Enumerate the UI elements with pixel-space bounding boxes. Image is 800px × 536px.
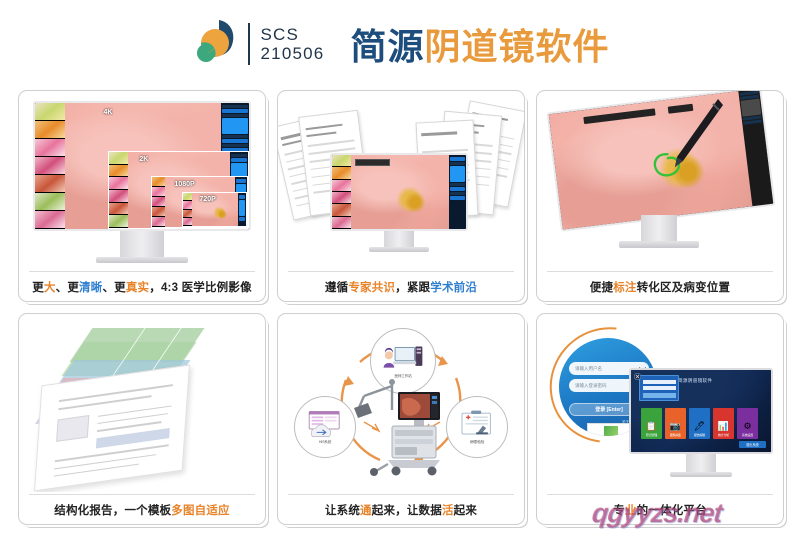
feature-card-consensus[interactable]: 遵循专家共识，紧跟学术前沿 xyxy=(277,90,525,302)
tile-capture[interactable]: 📷 图像采集 xyxy=(665,408,686,439)
page-header: SCS 210506 简源阴道镜软件 xyxy=(0,0,800,88)
monitor-screen xyxy=(330,153,468,231)
chart-icon: 📊 xyxy=(718,422,729,431)
caption-mid-2: 、更 xyxy=(102,279,125,295)
stylus-pen xyxy=(661,95,727,171)
monitor-platform: 简源阴道镜软件 📋 登记管理 xyxy=(629,368,773,477)
caption-hl-1: 标注 xyxy=(613,279,636,295)
flower-image xyxy=(332,155,466,229)
thumbnail-strip xyxy=(332,155,351,229)
card-media-report xyxy=(19,314,265,492)
card-caption-resolution: 更大、更清晰、更真实，4:3 医学比例影像 xyxy=(29,271,255,301)
res-label-2k: 2K xyxy=(139,156,148,163)
title-part-1: 简源 xyxy=(350,26,424,67)
page-title: 简源阴道镜软件 xyxy=(350,18,609,70)
title-part-2: 阴道镜软件 xyxy=(424,26,609,67)
feature-card-platform[interactable]: 请输入用户名 请输入登录密码 忘记密码 登录 [Enter] 关于医疗产品版 简… xyxy=(536,313,784,525)
desktop-title: 简源阴道镜软件 xyxy=(678,378,712,384)
desktop-login-panel[interactable] xyxy=(639,375,679,401)
monitor-base xyxy=(96,257,188,263)
certification-code: SCS 210506 xyxy=(261,25,325,63)
card-caption-consensus: 遵循专家共识，紧跟学术前沿 xyxy=(288,271,514,301)
feature-card-resolution[interactable]: 4K 2K 1080P xyxy=(18,90,266,302)
monitor-base xyxy=(619,241,699,248)
card-media-resolution: 4K 2K 1080P xyxy=(19,91,265,269)
caption-mid-1: 起来，让数据 xyxy=(372,502,442,518)
node-label: 病理/检验 xyxy=(470,440,484,445)
caption-text: 专 xyxy=(613,502,625,518)
caption-hl-3: 真实 xyxy=(126,279,149,295)
card-caption-report: 结构化报告，一个模板多图自适应 xyxy=(29,494,255,524)
caption-hl-1: 业 xyxy=(625,502,637,518)
thumbnail-strip xyxy=(35,103,65,229)
tile-statistics[interactable]: 📊 统计分析 xyxy=(713,408,734,439)
monitor-base xyxy=(670,472,732,477)
code-line-2: 210506 xyxy=(261,44,325,63)
camera-icon: 📷 xyxy=(670,422,681,431)
card-media-annotation xyxy=(537,91,783,269)
report-thumbnail xyxy=(56,415,90,442)
report-document xyxy=(34,365,190,492)
tile-label: 统计分析 xyxy=(718,433,729,437)
caption-hl-1: 通 xyxy=(360,502,372,518)
caption-post: 转化区及病变位置 xyxy=(637,279,731,295)
caption-post: 起来 xyxy=(454,502,477,518)
poster-page: SCS 210506 简源阴道镜软件 xyxy=(0,0,800,536)
feature-card-grid: 4K 2K 1080P xyxy=(18,90,784,526)
monitor-neck xyxy=(686,454,716,472)
tile-settings[interactable]: ⚙ 系统设置 xyxy=(737,408,758,439)
caption-hl-2: 学术前沿 xyxy=(430,279,477,295)
caption-post: 的一体化平台 xyxy=(637,502,707,518)
monitor-screen: 4K 2K 1080P xyxy=(33,101,251,231)
brand-lockup: SCS 210506 xyxy=(191,18,325,70)
caption-text: 遵循 xyxy=(325,279,348,295)
card-media-workflow: 医师工作站 HIS系统 xyxy=(278,314,524,492)
card-media-platform: 请输入用户名 请输入登录密码 忘记密码 登录 [Enter] 关于医疗产品版 简… xyxy=(537,314,783,492)
tile-label: 登记管理 xyxy=(646,433,657,437)
close-icon[interactable] xyxy=(634,373,641,380)
node-label: HIS系统 xyxy=(319,440,331,445)
res-label-4k: 4K xyxy=(103,109,112,116)
colposcope-cart xyxy=(348,370,458,480)
caption-post: ，4:3 医学比例影像 xyxy=(149,279,252,295)
scs-spiral-logo xyxy=(191,18,237,70)
caption-hl-1: 大 xyxy=(44,279,56,295)
res-label-1080p: 1080P xyxy=(174,181,194,188)
node-his-cloud: HIS系统 xyxy=(294,396,356,458)
tile-label: 报告编辑 xyxy=(694,433,705,437)
caption-hl-2: 清晰 xyxy=(79,279,102,295)
res-frame-2k: 2K 1080P xyxy=(108,151,249,229)
monitor-neck xyxy=(120,231,164,257)
tile-label: 图像采集 xyxy=(670,433,681,437)
monitor-screen: 简源阴道镜软件 📋 登记管理 xyxy=(629,368,773,454)
res-frame-720p: 720P xyxy=(182,192,247,227)
caption-text: 结构化报告，一个模板 xyxy=(54,502,171,518)
feature-card-report[interactable]: 结构化报告，一个模板多图自适应 xyxy=(18,313,266,525)
tile-label: 系统设置 xyxy=(742,433,753,437)
res-frame-1080p: 1080P 720P xyxy=(151,176,248,228)
monitor-neck xyxy=(641,215,677,243)
caption-hl-2: 活 xyxy=(442,502,454,518)
caption-hl-1: 专家共识 xyxy=(348,279,395,295)
feature-card-annotation[interactable]: 便捷标注转化区及病变位置 xyxy=(536,90,784,302)
monitor-neck xyxy=(384,231,414,247)
monitor-consensus xyxy=(330,153,468,252)
res-label-720p: 720P xyxy=(199,196,215,203)
clipboard-icon: 📋 xyxy=(646,422,657,431)
caption-mid-1: ，紧跟 xyxy=(395,279,430,295)
caption-hl-1: 多图自适应 xyxy=(171,502,230,518)
card-caption-annotation: 便捷标注转化区及病变位置 xyxy=(547,271,773,301)
card-caption-workflow: 让系统通起来，让数据活起来 xyxy=(288,494,514,524)
caption-mid-1: 、更 xyxy=(56,279,79,295)
card-caption-platform: 专业的一体化平台 xyxy=(547,494,773,524)
caption-text: 更 xyxy=(32,279,44,295)
logo-divider xyxy=(248,23,250,65)
monitor-4k: 4K 2K 1080P xyxy=(33,101,251,263)
feature-card-workflow[interactable]: 医师工作站 HIS系统 xyxy=(277,313,525,525)
code-line-1: SCS xyxy=(261,25,325,44)
image-toolbar xyxy=(355,159,390,166)
exit-button[interactable]: 退出系统 xyxy=(739,441,766,448)
pen-icon: 🖊 xyxy=(694,422,705,431)
monitor-base xyxy=(369,247,429,252)
login-footer-card xyxy=(587,423,633,436)
caption-text: 让系统 xyxy=(325,502,360,518)
gear-icon: ⚙ xyxy=(743,422,751,431)
caption-text: 便捷 xyxy=(590,279,613,295)
card-media-consensus xyxy=(278,91,524,269)
tile-report[interactable]: 🖊 报告编辑 xyxy=(689,408,710,439)
tool-sidebar xyxy=(449,155,466,229)
tile-registration[interactable]: 📋 登记管理 xyxy=(641,408,662,439)
